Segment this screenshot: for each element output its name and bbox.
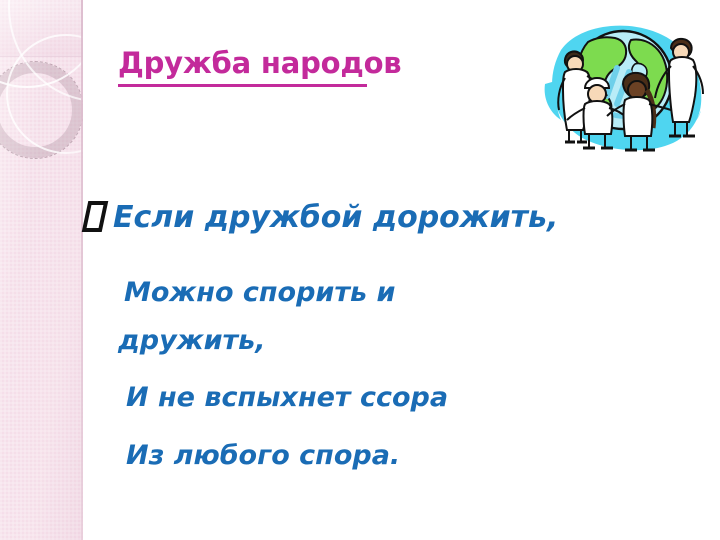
slide-canvas: Дружба народов Если дружбой дорожить, Мо…: [0, 0, 720, 540]
sidebar-edge: [81, 0, 83, 540]
children-around-globe-image: [531, 12, 713, 164]
poem-line-3: дружить,: [118, 325, 266, 356]
decorative-sidebar: [0, 0, 83, 540]
page-title-underline: [118, 84, 367, 87]
missing-glyph-bullet-icon: [82, 201, 109, 232]
poem-line-1: Если дружбой дорожить,: [113, 200, 558, 235]
page-title: Дружба народов: [118, 46, 401, 80]
poem-line-5: Из любого спора.: [126, 440, 400, 471]
sidebar-sheen: [0, 0, 83, 540]
bullet-list-item: Если дружбой дорожить,: [85, 196, 558, 235]
poem-line-4: И не вспыхнет ссора: [126, 382, 448, 413]
poem-line-2: Можно спорить и: [124, 277, 395, 308]
